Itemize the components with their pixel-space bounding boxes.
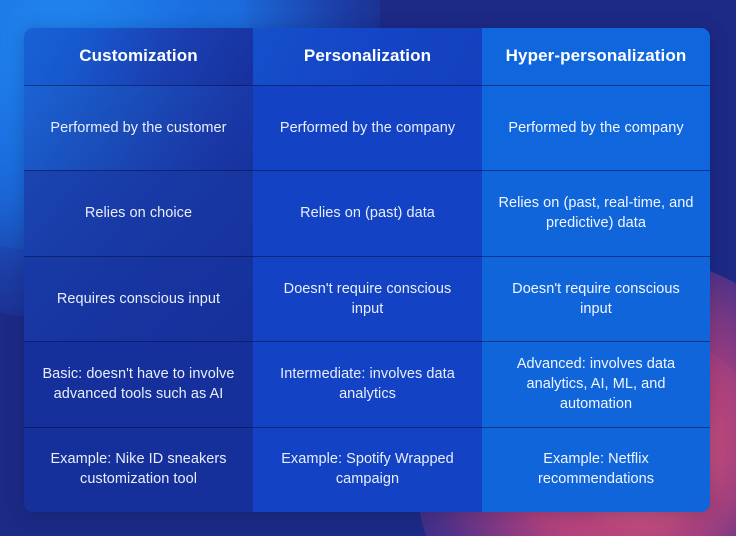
- header-label: Hyper-personalization: [506, 46, 687, 66]
- table-header-cell-customization: Customization: [24, 28, 253, 85]
- table-header-row: Customization Personalization Hyper-pers…: [24, 28, 710, 85]
- table-cell: Relies on choice: [24, 170, 253, 255]
- comparison-table: Customization Personalization Hyper-pers…: [24, 28, 710, 512]
- cell-text: Example: Spotify Wrapped campaign: [267, 449, 468, 489]
- table-row: Example: Nike ID sneakers customization …: [24, 427, 710, 512]
- table-cell: Advanced: involves data analytics, AI, M…: [482, 341, 710, 426]
- table-cell: Example: Netflix recommendations: [482, 427, 710, 512]
- cell-text: Performed by the company: [508, 118, 683, 138]
- table-row: Relies on choice Relies on (past) data R…: [24, 170, 710, 255]
- cell-text: Requires conscious input: [57, 289, 220, 309]
- table-row: Performed by the customer Performed by t…: [24, 85, 710, 170]
- cell-text: Relies on choice: [85, 203, 192, 223]
- cell-text: Relies on (past) data: [300, 203, 435, 223]
- table-row: Basic: doesn't have to involve advanced …: [24, 341, 710, 426]
- header-label: Customization: [79, 46, 197, 66]
- cell-text: Advanced: involves data analytics, AI, M…: [496, 354, 696, 414]
- cell-text: Doesn't require conscious input: [267, 279, 468, 319]
- cell-text: Example: Netflix recommendations: [496, 449, 696, 489]
- table-cell: Intermediate: involves data analytics: [253, 341, 482, 426]
- table-cell: Requires conscious input: [24, 256, 253, 341]
- table-cell: Basic: doesn't have to involve advanced …: [24, 341, 253, 426]
- cell-text: Performed by the company: [280, 118, 455, 138]
- table-cell: Relies on (past, real-time, and predicti…: [482, 170, 710, 255]
- cell-text: Example: Nike ID sneakers customization …: [38, 449, 239, 489]
- cell-text: Doesn't require conscious input: [496, 279, 696, 319]
- table-cell: Performed by the customer: [24, 85, 253, 170]
- cell-text: Basic: doesn't have to involve advanced …: [38, 364, 239, 404]
- comparison-table-infographic: Customization Personalization Hyper-pers…: [0, 0, 736, 536]
- table-cell: Doesn't require conscious input: [253, 256, 482, 341]
- table-cell: Doesn't require conscious input: [482, 256, 710, 341]
- table-cell: Example: Nike ID sneakers customization …: [24, 427, 253, 512]
- table-cell: Example: Spotify Wrapped campaign: [253, 427, 482, 512]
- table-cell: Performed by the company: [482, 85, 710, 170]
- table-row: Requires conscious input Doesn't require…: [24, 256, 710, 341]
- table-cell: Relies on (past) data: [253, 170, 482, 255]
- cell-text: Intermediate: involves data analytics: [267, 364, 468, 404]
- table-header-cell-personalization: Personalization: [253, 28, 482, 85]
- cell-text: Relies on (past, real-time, and predicti…: [496, 193, 696, 233]
- table-header-cell-hyper-personalization: Hyper-personalization: [482, 28, 710, 85]
- table-cell: Performed by the company: [253, 85, 482, 170]
- header-label: Personalization: [304, 46, 431, 66]
- cell-text: Performed by the customer: [50, 118, 226, 138]
